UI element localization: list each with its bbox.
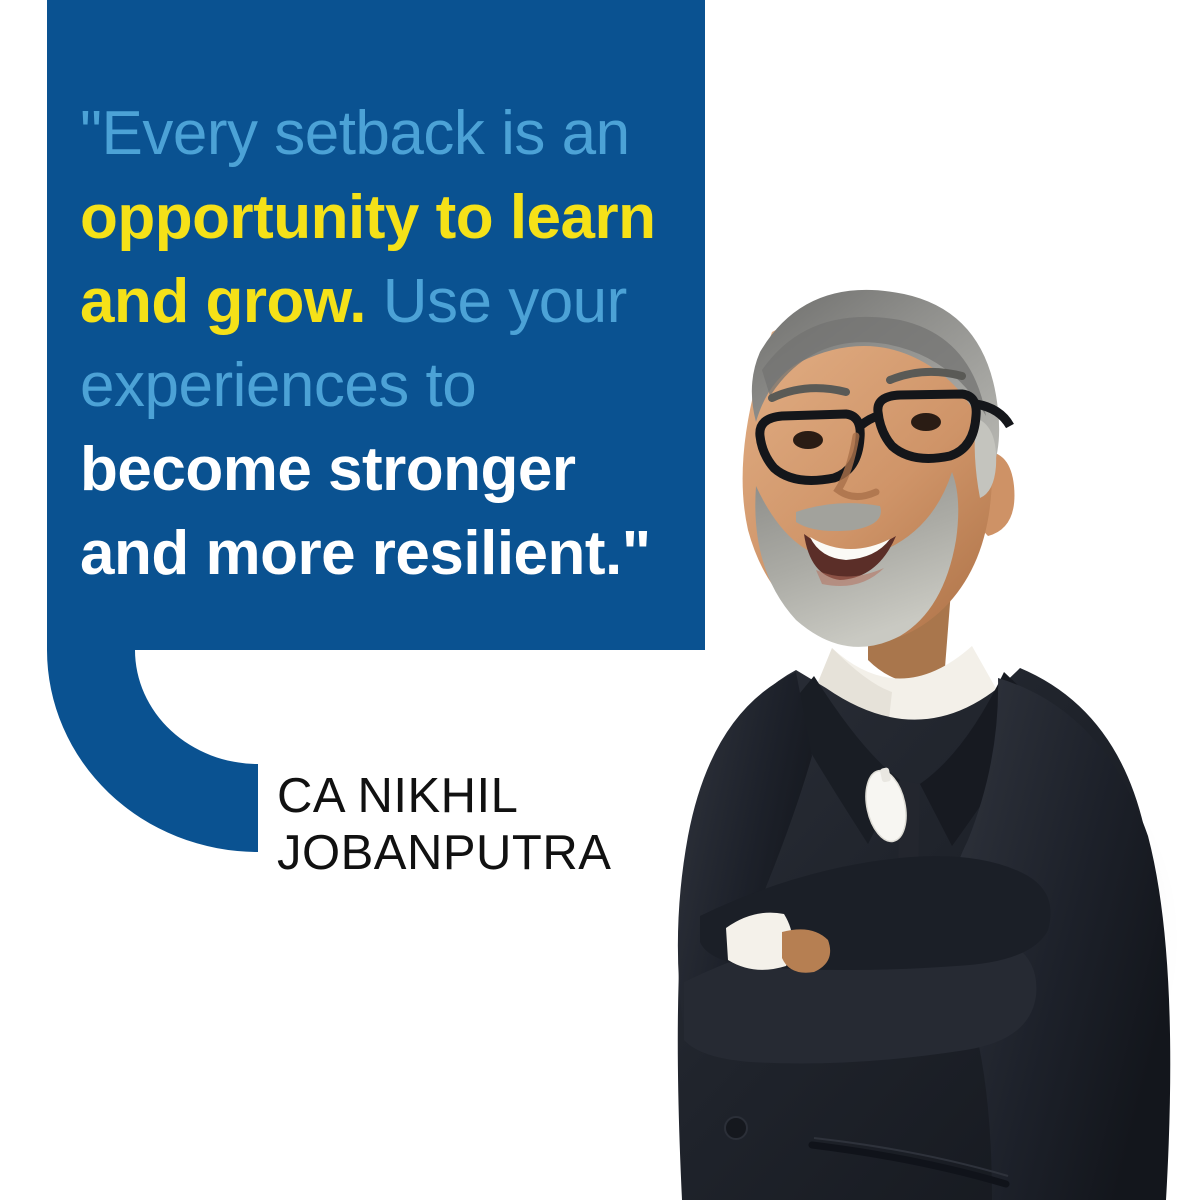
quote-text: "Every setback is an opportunity to lear… bbox=[80, 92, 680, 596]
quote-poster: "Every setback is an opportunity to lear… bbox=[0, 0, 1200, 1200]
quote-segment-white: become stronger and more resilient." bbox=[80, 435, 651, 588]
quote-segment-light-1: "Every setback is an bbox=[80, 99, 630, 168]
attribution-name: CA NIKHIL JOBANPUTRA bbox=[277, 768, 611, 882]
quote-bubble-tail bbox=[47, 640, 262, 852]
